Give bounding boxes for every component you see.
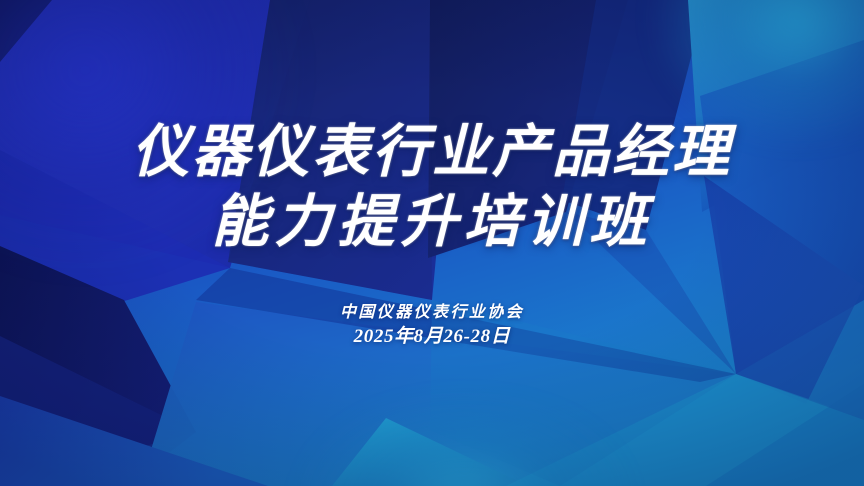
low-poly-background: [0, 0, 864, 486]
presentation-slide: 仪器仪表行业产品经理 能力提升培训班 中国仪器仪表行业协会 2025年8月26-…: [0, 0, 864, 486]
